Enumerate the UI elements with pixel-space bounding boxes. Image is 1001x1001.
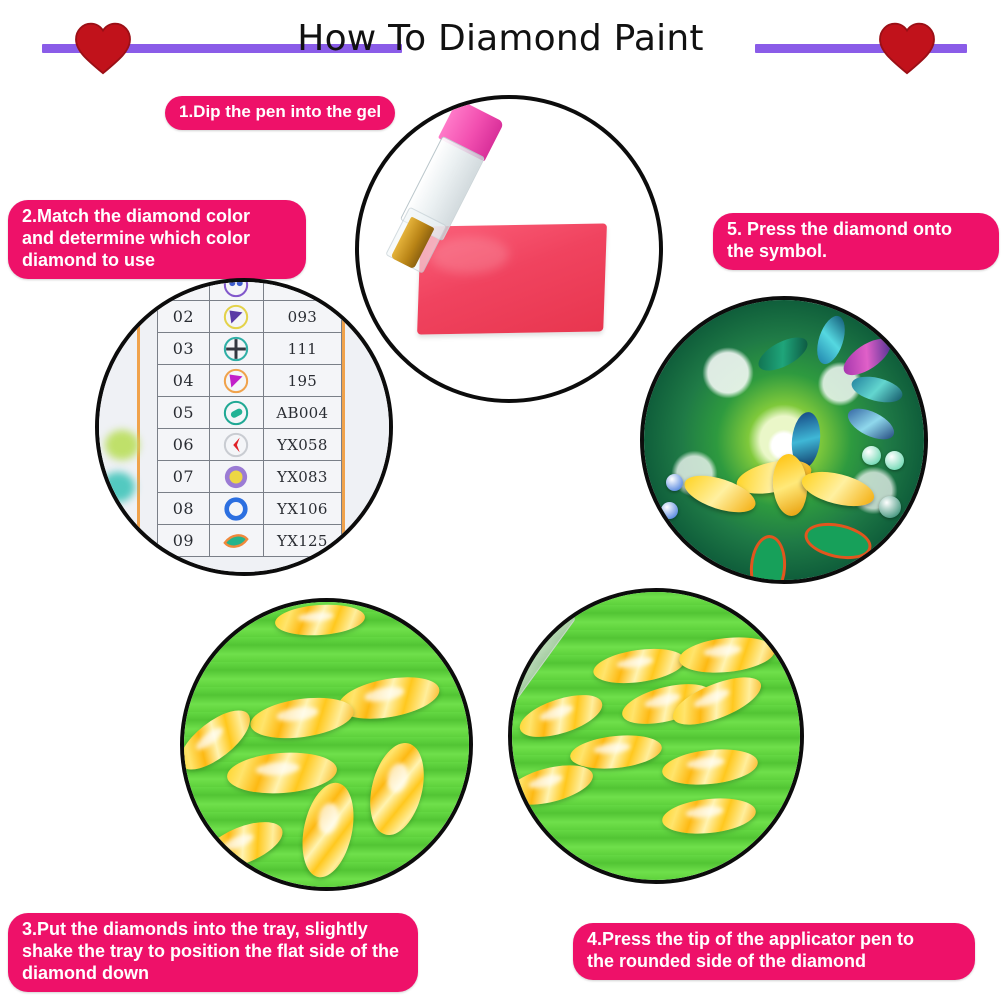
gem-yellow [247, 692, 355, 744]
code-cell: 08 [158, 493, 210, 525]
chart-margin-line [342, 282, 345, 572]
step-label-5-text: 5. Press the diamond onto the symbol. [727, 219, 985, 263]
infographic-page: How To Diamond Paint 1.Dip the pen into … [0, 0, 1001, 1001]
gem-round [862, 446, 881, 465]
canvas-color-blob [101, 472, 135, 502]
page-header: How To Diamond Paint [0, 0, 1001, 80]
gem-round [661, 502, 678, 519]
gem-yellow [591, 643, 687, 687]
dmc-cell: YX125 [263, 525, 341, 557]
photo-3-content [184, 602, 469, 887]
gem-yellow [361, 737, 432, 840]
step-label-3: 3.Put the diamonds into the tray, slight… [8, 913, 418, 992]
table-row: 04195 [158, 365, 342, 397]
photo-step-4-pen-on-diamond [508, 588, 804, 884]
gem-yellow [678, 633, 777, 677]
applicator-pen [640, 296, 703, 454]
code-cell: 09 [158, 525, 210, 557]
gem-yellow [515, 686, 607, 745]
photo-5-content [644, 300, 924, 580]
dmc-cell: 111 [263, 333, 341, 365]
gem-yellow [660, 795, 757, 839]
diamond-code-table: 0102002093031110419505AB00406YX05807YX08… [157, 278, 342, 557]
photo-1-content [359, 99, 659, 399]
gem-yellow [197, 813, 288, 878]
step-label-4: 4.Press the tip of the applicator pen to… [573, 923, 975, 980]
code-cell: 02 [158, 301, 210, 333]
code-cell: 04 [158, 365, 210, 397]
gem-yellow [294, 778, 361, 882]
table-row: 03111 [158, 333, 342, 365]
chart-margin-line [137, 282, 140, 572]
pen-body [508, 592, 577, 704]
page-title: How To Diamond Paint [0, 18, 1001, 59]
triangle-icon [209, 301, 263, 333]
table-row: 05AB004 [158, 397, 342, 429]
gem-green [754, 331, 813, 378]
dmc-cell: YX058 [263, 429, 341, 461]
dot-in-ring-icon [209, 461, 263, 493]
code-cell: 07 [158, 461, 210, 493]
table-row: 02093 [158, 301, 342, 333]
photo-step-1-pen-in-gel [355, 95, 663, 403]
plus-icon [209, 333, 263, 365]
dmc-cell: 195 [263, 365, 341, 397]
ring-icon [209, 493, 263, 525]
dmc-cell: 093 [263, 301, 341, 333]
step-label-3-text: 3.Put the diamonds into the tray, slight… [22, 919, 404, 985]
chevron-left-icon [209, 429, 263, 461]
table-row: 08YX106 [158, 493, 342, 525]
leaf-icon [209, 525, 263, 557]
code-cell: 05 [158, 397, 210, 429]
photo-4-content [512, 592, 800, 880]
dmc-cell: YX083 [263, 461, 341, 493]
gem-round [879, 496, 901, 518]
gem-magenta [838, 332, 896, 382]
gem-round [666, 474, 683, 491]
table-row: 01020 [158, 278, 342, 301]
step-label-2: 2.Match the diamond color and determine … [8, 200, 306, 279]
pen-tip-icon [508, 676, 510, 735]
gem-teal [849, 372, 905, 407]
printed-symbol [748, 534, 788, 584]
code-cell: 01 [158, 278, 210, 301]
gem-yellow [667, 668, 767, 735]
printed-symbol [801, 517, 875, 564]
code-cell: 03 [158, 333, 210, 365]
photo-step-5-press-onto-symbol [640, 296, 928, 584]
gem-yellow [660, 745, 759, 789]
triangle-icon [209, 365, 263, 397]
dmc-cell: 020 [263, 278, 341, 301]
gem-blue [843, 402, 898, 445]
step-label-4-text: 4.Press the tip of the applicator pen to… [587, 929, 961, 973]
gem-teal [812, 313, 850, 368]
gem-yellow [798, 465, 877, 512]
step-label-2-text: 2.Match the diamond color and determine … [22, 206, 292, 272]
code-cell: 06 [158, 429, 210, 461]
step-label-1-text: 1.Dip the pen into the gel [179, 102, 381, 123]
table-row: 09YX125 [158, 525, 342, 557]
double-dot-icon [209, 278, 263, 301]
table-row: 07YX083 [158, 461, 342, 493]
table-row: 06YX058 [158, 429, 342, 461]
photo-2-content: 0102002093031110419505AB00406YX05807YX08… [99, 282, 389, 572]
step-label-5: 5. Press the diamond onto the symbol. [713, 213, 999, 270]
gem-yellow [274, 602, 366, 638]
pill-icon [209, 397, 263, 429]
photo-step-3-diamonds-in-tray [180, 598, 473, 891]
photo-step-2-color-chart: 0102002093031110419505AB00406YX05807YX08… [95, 278, 393, 576]
gem-round [885, 451, 904, 470]
canvas-color-blob [105, 430, 139, 460]
dmc-cell: YX106 [263, 493, 341, 525]
dmc-cell: AB004 [263, 397, 341, 429]
